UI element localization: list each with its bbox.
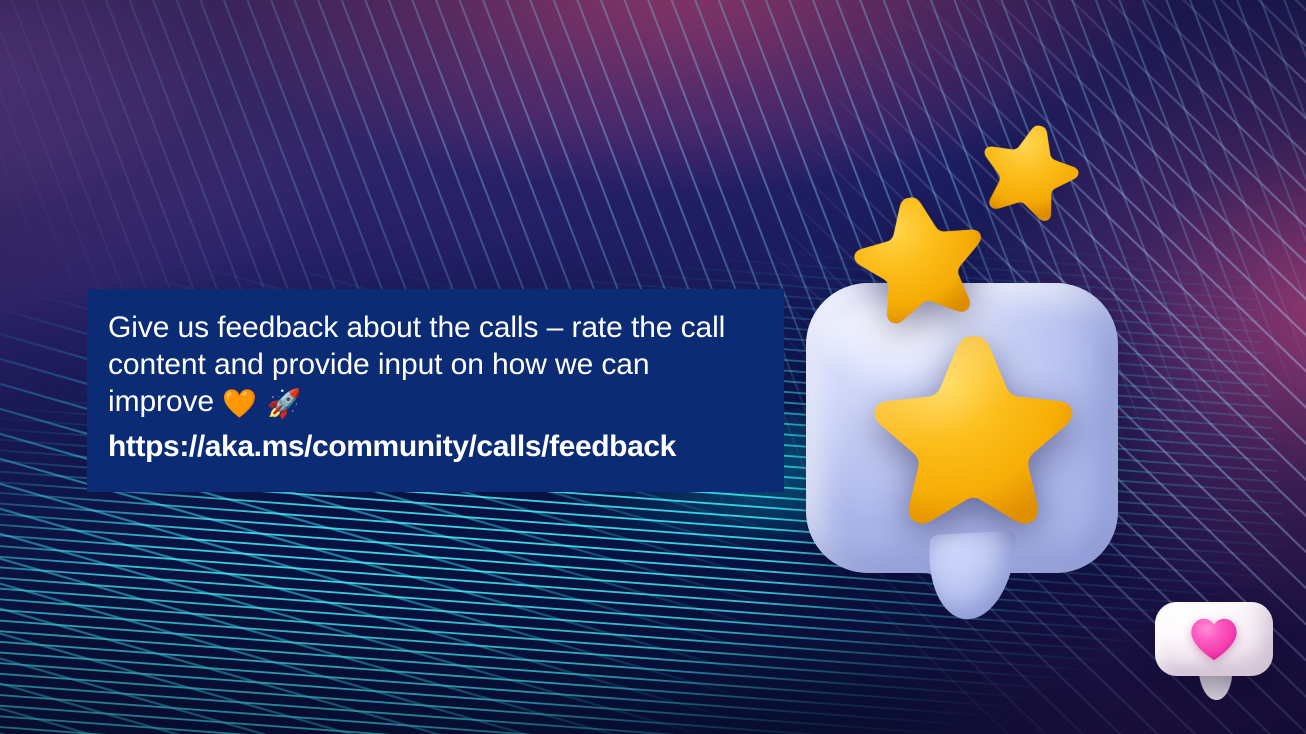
message-line-1: Give us feedback about the calls – rate … [108,311,725,344]
feedback-text-panel: Give us feedback about the calls – rate … [87,289,784,492]
feedback-url[interactable]: https://aka.ms/community/calls/feedback [108,429,676,465]
orange-heart-emoji-icon: 🧡 [222,388,258,419]
rocket-emoji-icon: 🚀 [258,388,303,419]
slide-canvas: Give us feedback about the calls – rate … [0,0,1306,734]
heart-reaction-bubble-icon [1155,602,1273,698]
feedback-message: Give us feedback about the calls – rate … [108,309,762,422]
message-line-3: improve [108,385,222,418]
message-line-2: content and provide input on how we can [108,348,649,381]
heart-icon [1189,616,1239,662]
star-large-icon [872,326,1080,531]
